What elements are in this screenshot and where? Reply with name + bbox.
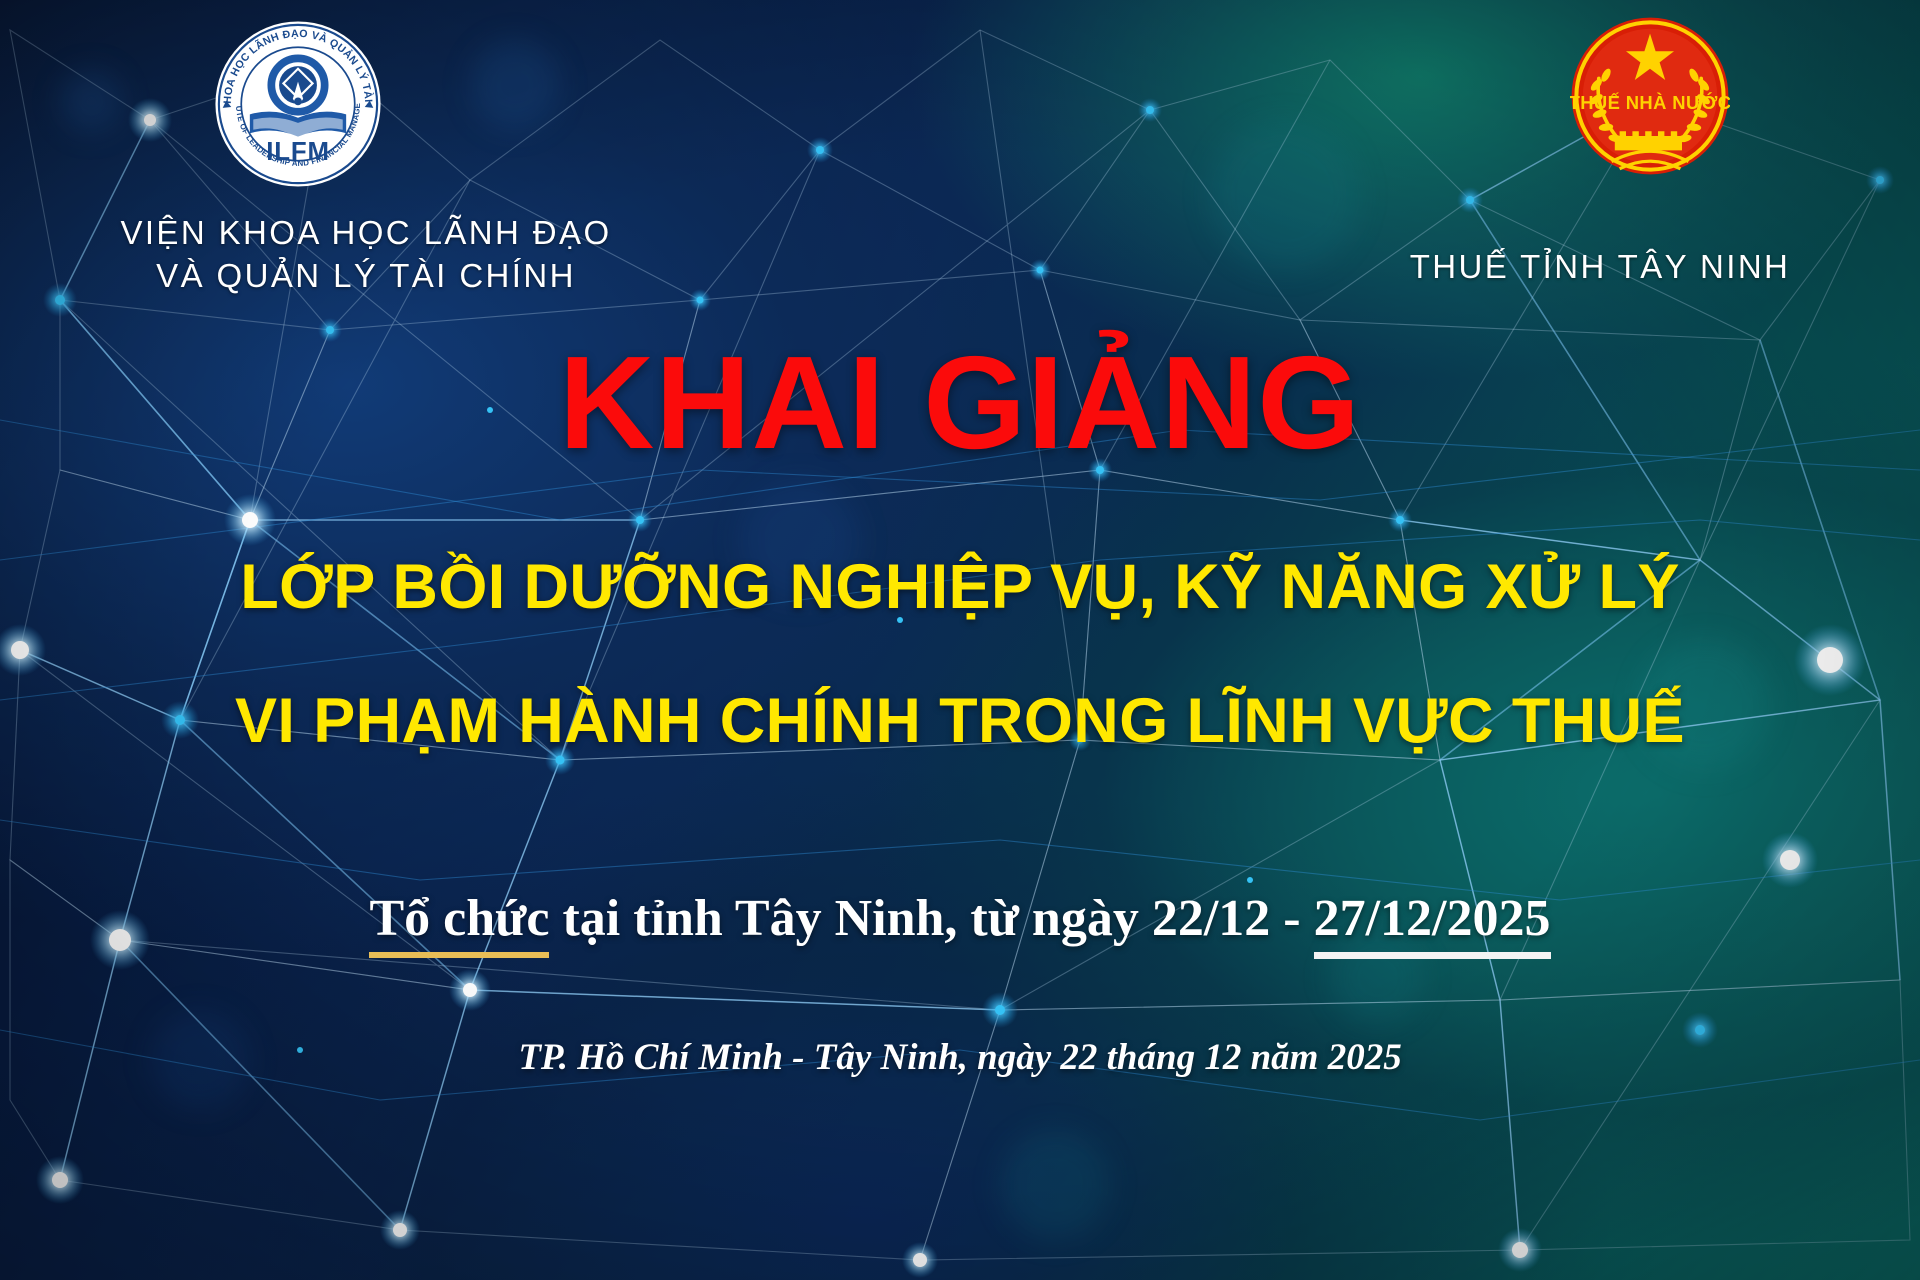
event-banner: VIỆN KHOA HỌC LÃNH ĐẠO VÀ QUẢN LÝ TÀI CH… (0, 0, 1920, 1280)
left-organization-name: VIỆN KHOA HỌC LÃNH ĐẠO VÀ QUẢN LÝ TÀI CH… (56, 212, 676, 298)
svg-text:THUẾ NHÀ NƯỚC: THUẾ NHÀ NƯỚC (1570, 92, 1730, 113)
subtitle-line-1: LỚP BỒI DƯỠNG NGHIỆP VỤ, KỸ NĂNG XỬ LÝ (0, 556, 1920, 619)
schedule-end-date: 27/12/2025 (1314, 890, 1551, 959)
right-organization-name: THUẾ TỈNH TÂY NINH (1400, 246, 1800, 289)
org-left-line2: VÀ QUẢN LÝ TÀI CHÍNH (56, 255, 676, 298)
org-right-line1: THUẾ TỈNH TÂY NINH (1400, 246, 1800, 289)
headline-khai-giang: KHAI GIẢNG (0, 337, 1920, 469)
subtitle-line-2: VI PHẠM HÀNH CHÍNH TRONG LĨNH VỰC THUẾ (0, 690, 1920, 753)
place-date-line: TP. Hồ Chí Minh - Tây Ninh, ngày 22 thán… (0, 1038, 1920, 1079)
ilfm-logo: VIỆN KHOA HỌC LÃNH ĐẠO VÀ QUẢN LÝ TÀI CH… (212, 18, 384, 166)
state-tax-seal-logo: THUẾ NHÀ NƯỚC (1570, 16, 1730, 166)
svg-text:ILFM: ILFM (266, 138, 330, 166)
schedule-prefix: Tổ chức (369, 890, 549, 958)
schedule-middle: tại tỉnh Tây Ninh, từ ngày 22/12 - (549, 890, 1313, 947)
org-left-line1: VIỆN KHOA HỌC LÃNH ĐẠO (56, 212, 676, 255)
schedule-line: Tổ chức tại tỉnh Tây Ninh, từ ngày 22/12… (0, 890, 1920, 947)
background-vignette (0, 0, 1920, 1280)
